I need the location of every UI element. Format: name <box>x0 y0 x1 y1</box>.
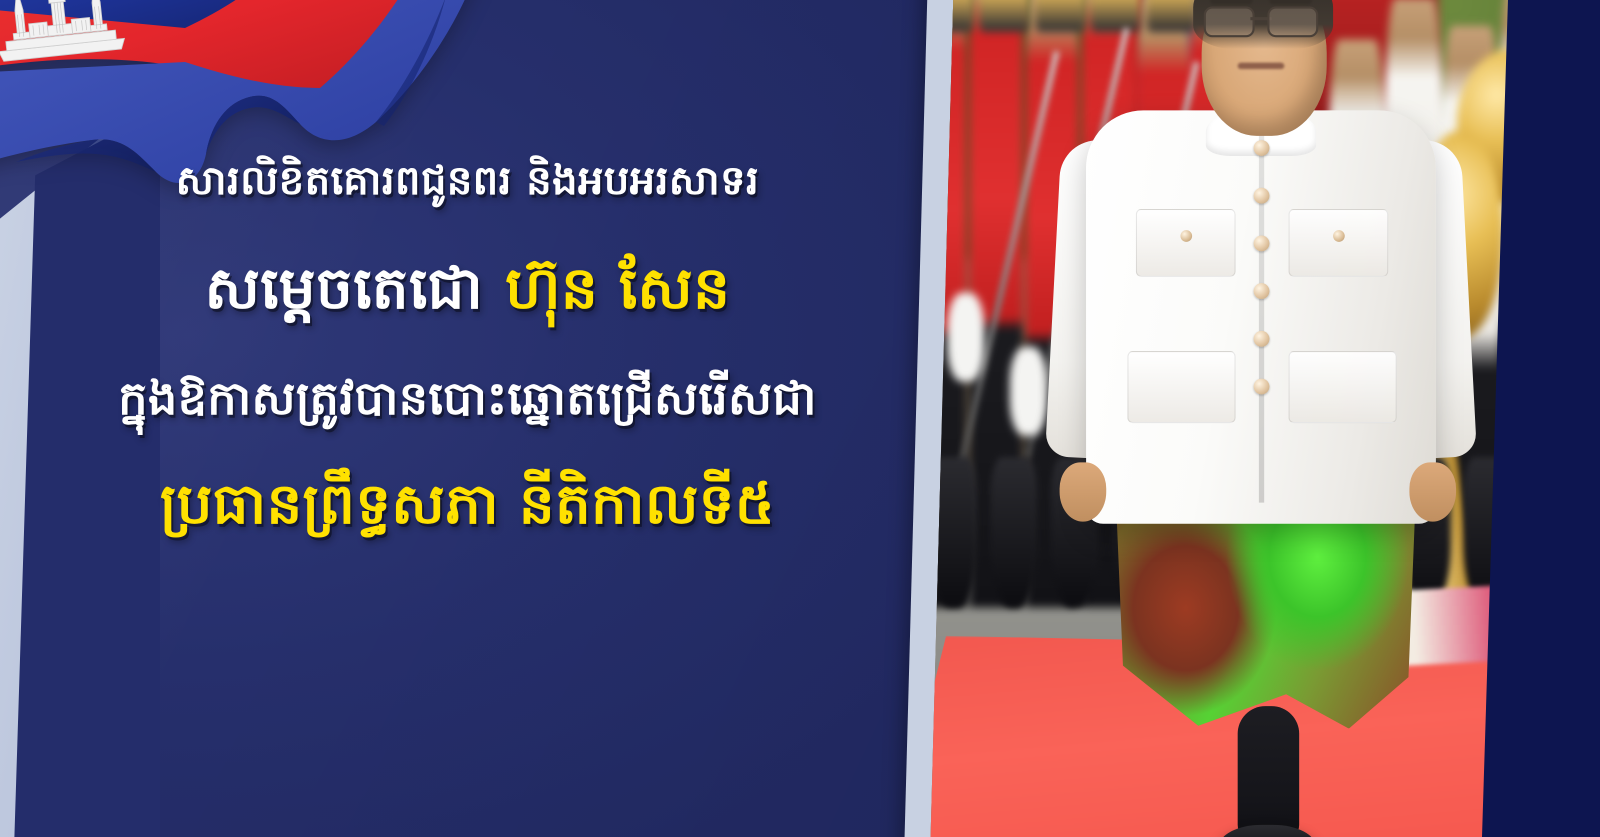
jacket-buttons <box>1249 141 1272 427</box>
jacket-pocket-bottom-right <box>1289 351 1397 423</box>
headline-line-3: ក្នុងឱកាសត្រូវបានបោះឆ្នោតជ្រើសរើសជា <box>28 374 908 423</box>
jacket-pocket-top-left <box>1136 209 1236 277</box>
headline-line-2-name: ហ៊ុន សែន <box>505 254 730 322</box>
right-hand <box>1409 462 1456 521</box>
left-content-panel: សារលិខិតគោរពជូនពរ និងអបអរសាទរ សម្តេចតេជោ… <box>0 0 935 837</box>
headline-line-1: សារលិខិតគោរពជូនពរ និងអបអរសាទរ <box>28 160 908 202</box>
pocket-button-left <box>1180 230 1192 242</box>
eyeglasses-icon <box>1204 7 1318 35</box>
left-hand <box>1060 462 1107 521</box>
leg <box>1238 707 1299 837</box>
headline-line-2-title: សម្តេចតេជោ <box>205 254 484 322</box>
headline-line-2: សម្តេចតេជោហ៊ុន សែន <box>28 258 908 319</box>
jacket-pocket-bottom-left <box>1127 351 1235 423</box>
jacket-pocket-top-right <box>1289 209 1389 277</box>
headline-text-block: សារលិខិតគោរពជូនពរ និងអបអរសាទរ សម្តេចតេជោ… <box>0 0 935 837</box>
front-shoe <box>1219 825 1317 837</box>
eyebrows <box>1210 0 1312 6</box>
poster-root: សារលិខិតគោរពជូនពរ និងអបអរសាទរ សម្តេចតេជោ… <box>0 0 1600 837</box>
mouth <box>1238 63 1285 69</box>
headline-line-4: ប្រធានព្រឹទ្ធសភា នីតិកាលទី៥ <box>28 475 908 534</box>
pocket-button-right <box>1333 230 1345 242</box>
